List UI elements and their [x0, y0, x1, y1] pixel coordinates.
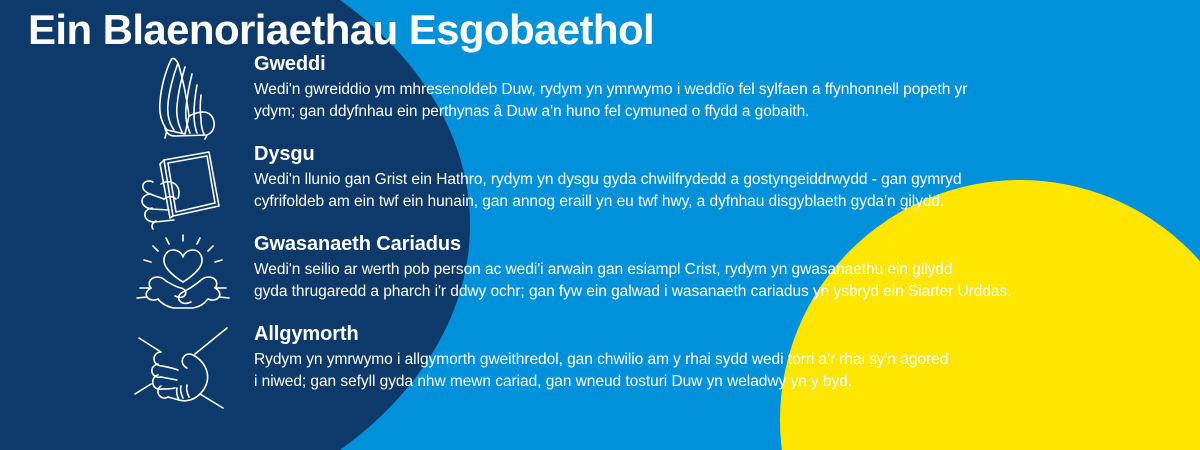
priority-body: Gwasanaeth Cariadus Wedi'n seilio ar wer… — [254, 232, 1094, 303]
clasping-hands-icon — [124, 322, 242, 412]
priority-text-line: cyfrifoldeb am ein twf ein hunain, gan a… — [254, 191, 1094, 213]
priority-heading: Dysgu — [254, 142, 1094, 167]
priority-item: Dysgu Wedi'n llunio gan Grist ein Hathro… — [0, 142, 1200, 232]
priority-text-line: Rydym yn ymrwymo i allgymorth gweithredo… — [254, 349, 1094, 371]
page-title: Ein Blaenoriaethau Esgobaethol — [28, 6, 654, 54]
priority-text-line: gyda thrugaredd a pharch i'r ddwy ochr; … — [254, 281, 1094, 303]
poster-content: Ein Blaenoriaethau Esgobaethol — [0, 0, 1200, 450]
hand-holding-book-icon — [124, 142, 242, 232]
priority-description: Wedi'n gwreiddio ym mhresenoldeb Duw, ry… — [254, 79, 1094, 123]
priorities-poster: Ein Blaenoriaethau Esgobaethol — [0, 0, 1200, 450]
priority-heading: Gwasanaeth Cariadus — [254, 232, 1094, 257]
priority-body: Gweddi Wedi'n gwreiddio ym mhresenoldeb … — [254, 52, 1094, 123]
priority-item: Gwasanaeth Cariadus Wedi'n seilio ar wer… — [0, 232, 1200, 322]
priority-text-line: i niwed; gan sefyll gyda nhw mewn cariad… — [254, 371, 1094, 393]
priority-text-line: Wedi'n llunio gan Grist ein Hathro, rydy… — [254, 169, 1094, 191]
priority-body: Allgymorth Rydym yn ymrwymo i allgymorth… — [254, 322, 1094, 393]
priority-text-line: ydym; gan ddyfnhau ein perthynas â Duw a… — [254, 101, 1094, 123]
priority-item: Allgymorth Rydym yn ymrwymo i allgymorth… — [0, 322, 1200, 412]
priority-description: Wedi'n llunio gan Grist ein Hathro, rydy… — [254, 169, 1094, 213]
hands-holding-heart-icon — [124, 232, 242, 322]
priority-text-line: Wedi'n seilio ar werth pob person ac wed… — [254, 259, 1094, 281]
priority-description: Wedi'n seilio ar werth pob person ac wed… — [254, 259, 1094, 303]
priority-heading: Allgymorth — [254, 322, 1094, 347]
priority-description: Rydym yn ymrwymo i allgymorth gweithredo… — [254, 349, 1094, 393]
priority-heading: Gweddi — [254, 52, 1094, 77]
priority-text-line: Wedi'n gwreiddio ym mhresenoldeb Duw, ry… — [254, 79, 1094, 101]
praying-hands-icon — [124, 52, 242, 142]
priorities-list: Gweddi Wedi'n gwreiddio ym mhresenoldeb … — [0, 52, 1200, 412]
priority-body: Dysgu Wedi'n llunio gan Grist ein Hathro… — [254, 142, 1094, 213]
priority-item: Gweddi Wedi'n gwreiddio ym mhresenoldeb … — [0, 52, 1200, 142]
